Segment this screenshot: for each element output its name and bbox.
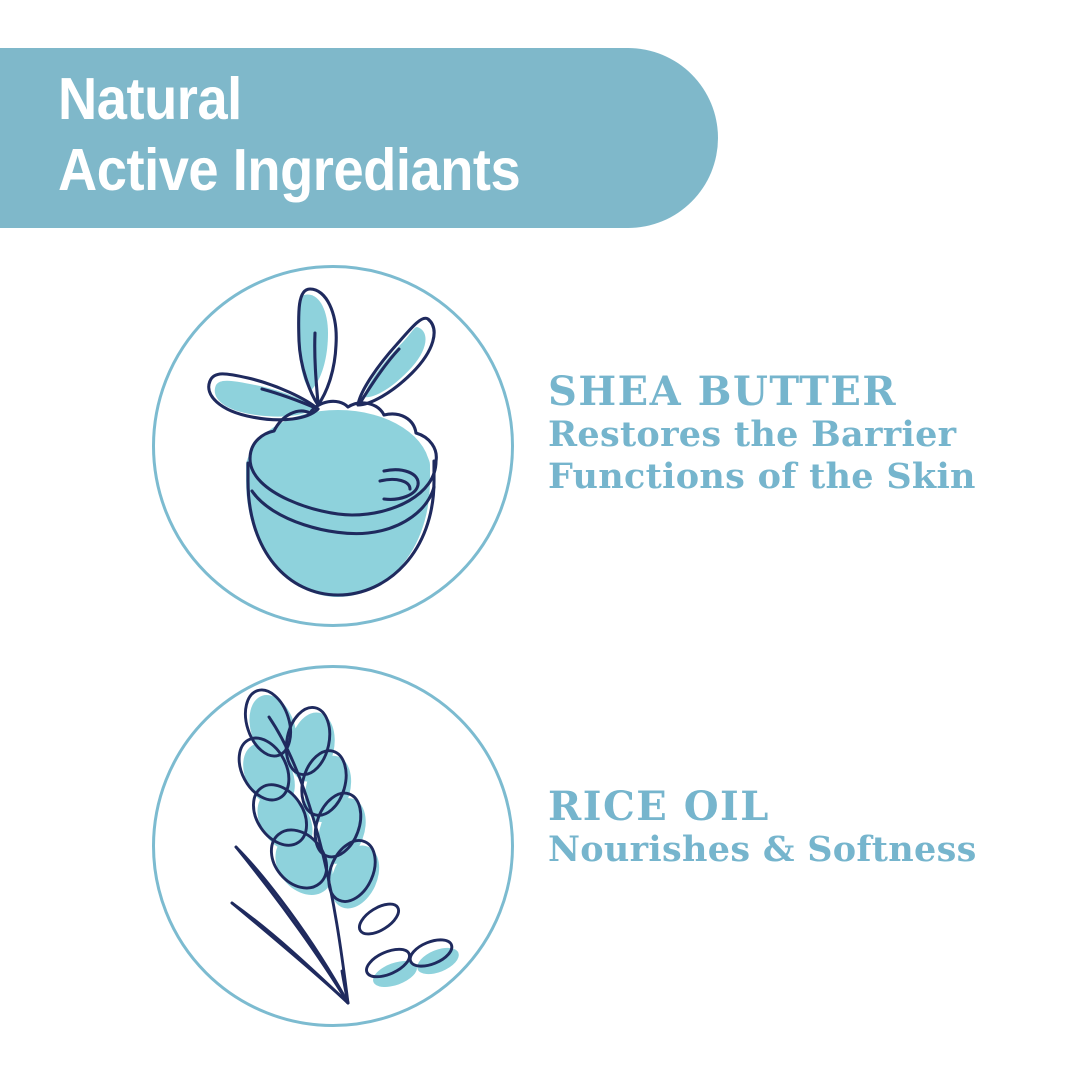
banner-title-line1: Natural xyxy=(58,64,665,135)
ingredient-desc-line1: Nourishes & Softness xyxy=(548,829,977,871)
ingredient-name: RICE OIL xyxy=(548,785,977,829)
ingredient-name: SHEA BUTTER xyxy=(548,370,976,414)
rice-stalk-icon xyxy=(152,665,514,1027)
ingredient-row-rice-oil: RICE OIL Nourishes & Softness xyxy=(0,665,1080,1031)
ingredient-desc-line1: Restores the Barrier xyxy=(548,414,976,456)
shea-butter-jar-icon xyxy=(152,265,514,627)
infographic-canvas: Natural Active Ingrediants xyxy=(0,0,1080,1080)
ingredient-row-shea-butter: SHEA BUTTER Restores the Barrier Functio… xyxy=(0,265,1080,629)
header-banner: Natural Active Ingrediants xyxy=(0,48,718,228)
ingredient-text-shea-butter: SHEA BUTTER Restores the Barrier Functio… xyxy=(548,370,976,498)
ingredient-text-rice-oil: RICE OIL Nourishes & Softness xyxy=(548,785,977,871)
ingredient-desc-line2: Functions of the Skin xyxy=(548,456,976,498)
banner-title-line2: Active Ingrediants xyxy=(58,135,665,206)
